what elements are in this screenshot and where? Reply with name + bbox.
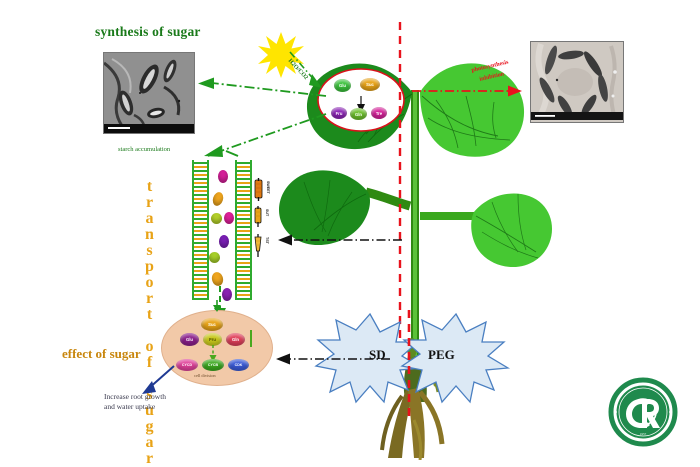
transit-sugar	[210, 271, 224, 287]
transit-sugar	[209, 252, 220, 263]
arrow-photosynthesis-inhibition	[412, 84, 524, 98]
arrow-channel-to-cell	[210, 300, 224, 314]
transporter-sweet-label: SWEET	[266, 181, 270, 194]
cell-molecule-glu: Glu	[180, 333, 199, 346]
transit-sugar	[224, 212, 234, 224]
heading-synthesis-of-sugar: synthesis of sugar	[95, 24, 201, 40]
cell-molecule-suc: Suc	[201, 318, 223, 331]
stress-burst-peg	[400, 312, 512, 404]
cell-molecule-gln: Gln	[226, 333, 245, 346]
stress-label-peg: PEG	[428, 347, 455, 363]
institute-logo: 1957	[608, 377, 678, 447]
divider-control-vs-stress	[396, 22, 404, 362]
chloroplast-molecule-fru: Fru	[331, 107, 347, 119]
arrow-to-starch-micrograph	[196, 75, 328, 101]
transit-sugar	[219, 235, 229, 248]
transit-sugar	[218, 170, 228, 183]
heading-effect-of-sugar: effect of sugar	[62, 346, 141, 362]
caption-root-growth-line2: and water uptake	[104, 402, 155, 412]
caption-root-growth-line1: Increase root growth	[104, 392, 166, 402]
chloroplast-molecule-tre: Tre	[371, 107, 387, 119]
transporter-sut-label: SUT	[265, 209, 269, 216]
transporter-tst-icon	[252, 234, 264, 258]
cell-molecule-cdk: CDK	[228, 359, 249, 371]
transporter-sut-icon	[252, 206, 264, 228]
divider-root-zone	[405, 310, 413, 420]
arrow-roots-to-cell	[272, 352, 392, 366]
micrograph-starch-accumulation	[103, 52, 195, 134]
chloroplast-molecule-suc: Suc	[360, 78, 380, 91]
transporter-sweet-icon	[251, 178, 265, 202]
heading-transport-of-sugar: transport of sugar	[140, 178, 158, 466]
transit-sugar	[211, 191, 225, 207]
transport-channel-right-membrane	[235, 160, 252, 300]
transport-channel-left-membrane	[192, 160, 209, 300]
caption-starch-accumulation: starch accumulation	[118, 146, 170, 153]
channel-top-markers	[206, 148, 240, 160]
chloroplast-molecule-gln: Gln	[350, 108, 367, 120]
figure-canvas: synthesis of sugar starch accumulation	[0, 0, 700, 467]
cell-molecule-cycb: CYCB	[202, 359, 224, 371]
transporter-tst-label: TST	[265, 237, 269, 244]
caption-cell-division: cell division	[194, 373, 216, 378]
arrow-stem-to-transporters	[274, 233, 404, 247]
cell-green-bar-marker	[250, 330, 252, 347]
transit-sugar	[211, 213, 222, 224]
logo-year: 1957	[640, 432, 647, 436]
cell-molecule-cycd: CYCD	[176, 359, 198, 371]
